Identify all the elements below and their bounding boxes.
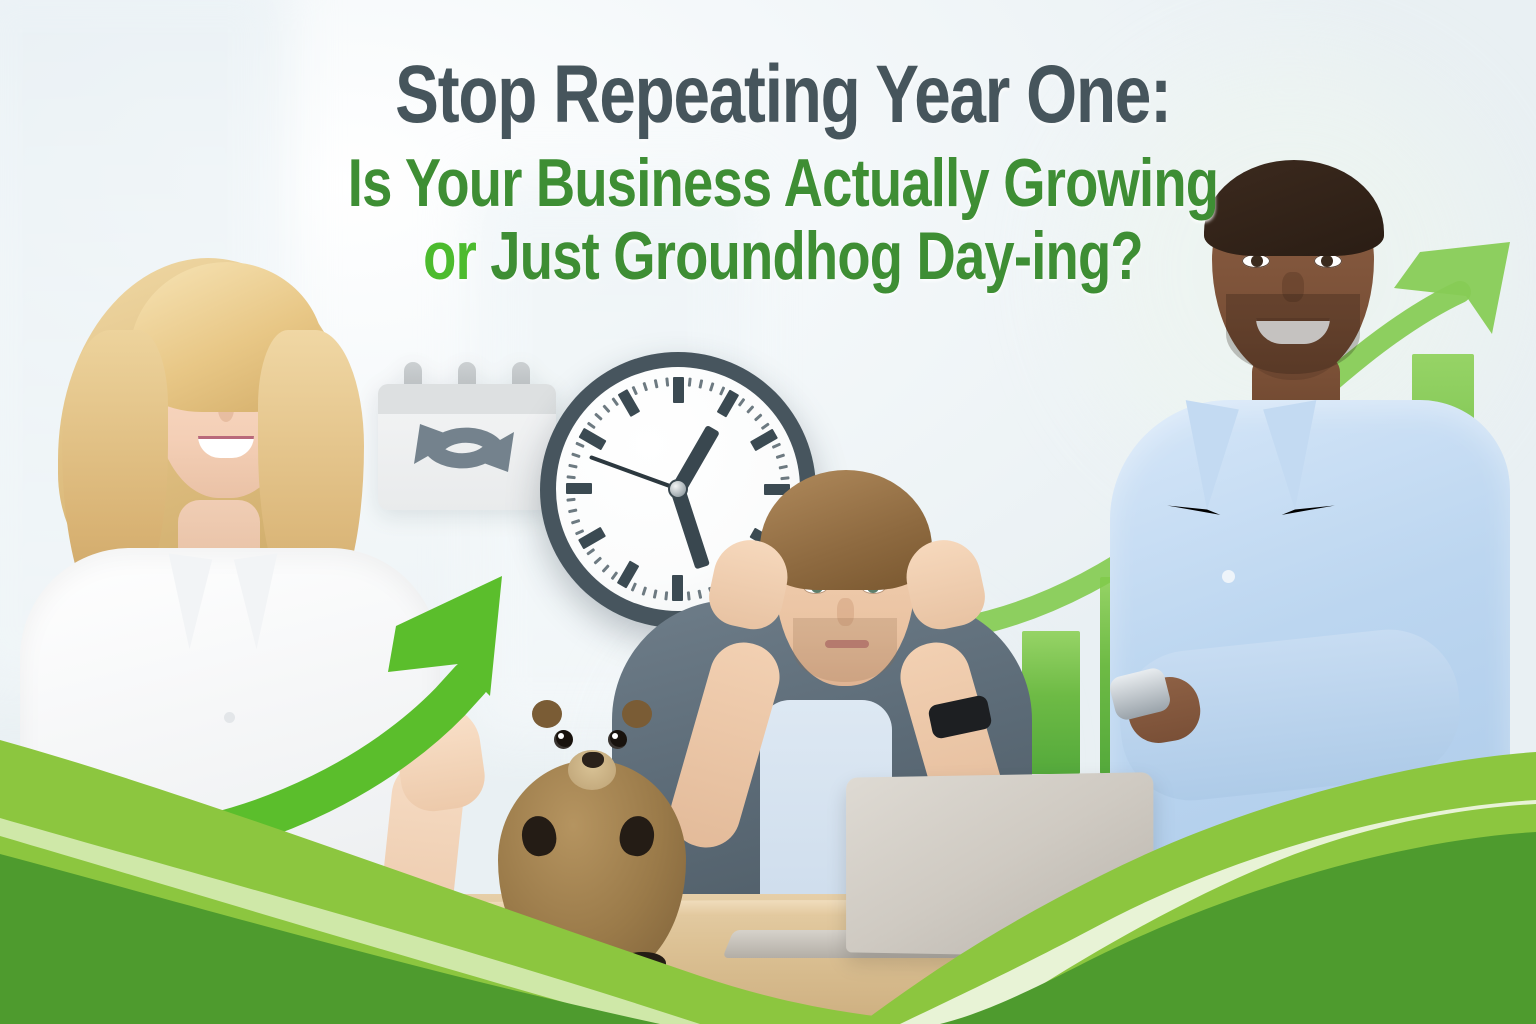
headline-tertiary-rest: Just Groundhog Day-ing? xyxy=(490,218,1143,294)
confident-beard xyxy=(1226,294,1360,374)
headline-secondary: Is Your Business Actually Growing xyxy=(181,149,1386,218)
poster-canvas: Stop Repeating Year One: Is Your Busines… xyxy=(0,0,1536,1024)
green-wave-decoration xyxy=(0,704,1536,1024)
headline-primary: Stop Repeating Year One: xyxy=(181,56,1386,135)
headline-or-word: or xyxy=(423,218,476,294)
woman-smile xyxy=(198,436,254,458)
refresh-arrows-icon xyxy=(378,362,556,510)
man-stubble xyxy=(793,618,897,682)
calendar-refresh-icon xyxy=(378,362,556,510)
shirt-button-1 xyxy=(1222,570,1235,583)
headline-block: Stop Repeating Year One: Is Your Busines… xyxy=(0,56,1536,291)
headline-tertiary: or Just Groundhog Day-ing? xyxy=(181,222,1386,291)
clock-center-cap xyxy=(670,481,686,497)
